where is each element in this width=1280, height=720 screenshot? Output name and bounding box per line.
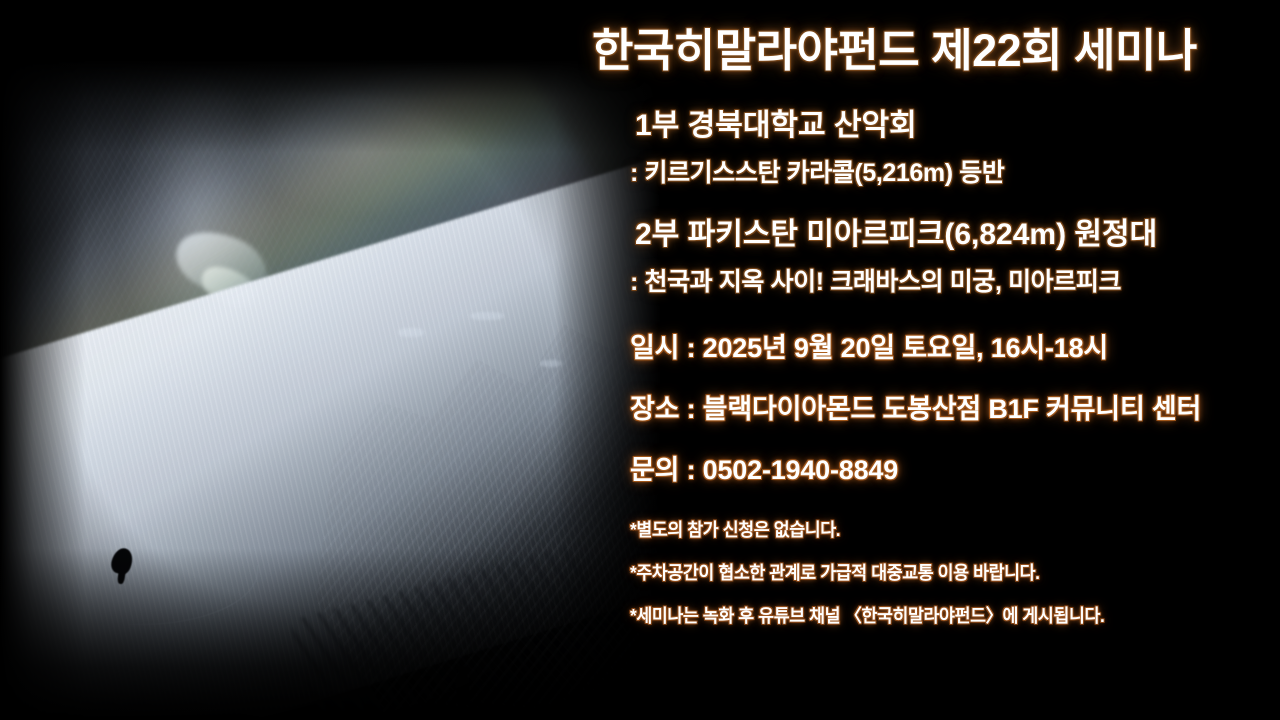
mountain-photo [0, 60, 660, 720]
program-2-subtitle: : 천국과 지옥 사이! 크래바스의 미궁, 미아르피크 [630, 262, 1280, 298]
program-1-subtitle: : 키르기스스탄 카라콜(5,216m) 등반 [630, 153, 1280, 189]
note-registration: *별도의 참가 신청은 없습니다. [630, 516, 1254, 542]
note-parking: *주차공간이 협소한 관계로 가급적 대중교통 이용 바랍니다. [630, 559, 1254, 585]
detail-contact: 문의 : 0502-1940-8849 [630, 448, 1280, 487]
detail-datetime: 일시 : 2025년 9월 20일 토요일, 16시-18시 [630, 326, 1280, 365]
program-1-heading: 1부 경북대학교 산악회 [630, 100, 1280, 144]
photo-climber-lower-head [458, 666, 467, 675]
detail-venue: 장소 : 블랙다이아몬드 도봉산점 B1F 커뮤니티 센터 [630, 387, 1280, 426]
poster-text-block: 1부 경북대학교 산악회 : 키르기스스탄 카라콜(5,216m) 등반 2부 … [630, 100, 1280, 628]
program-2-heading: 2부 파키스탄 미아르피크(6,824m) 원정대 [630, 209, 1280, 253]
note-youtube: *세미나는 녹화 후 유튜브 채널 〈한국히말라야펀드〉에 게시됩니다. [630, 602, 1254, 628]
seminar-poster: 한국히말라야펀드 제22회 세미나 1부 경북대학교 산악회 : 키르기스스탄 … [0, 0, 1280, 720]
page-title: 한국히말라야펀드 제22회 세미나 [592, 14, 1280, 79]
